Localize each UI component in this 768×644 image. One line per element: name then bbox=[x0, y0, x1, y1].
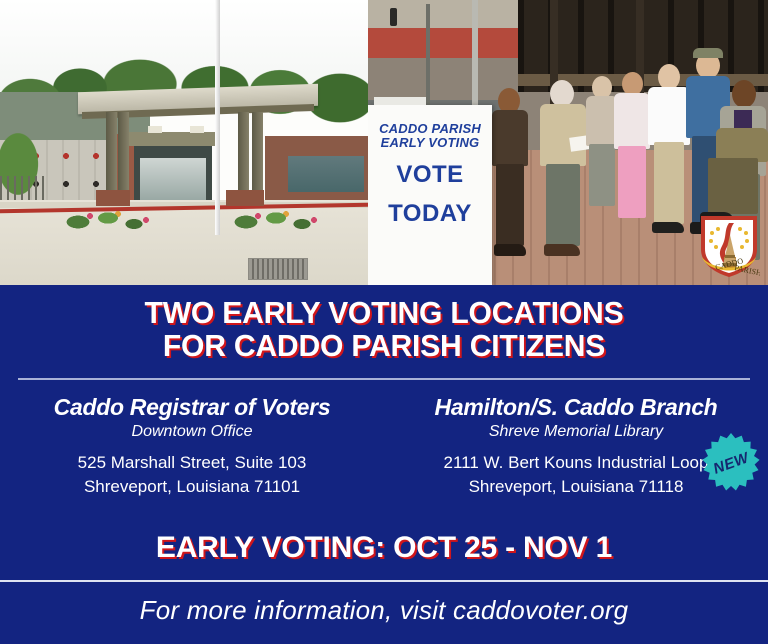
early-voting-yard-sign: CADDO PARISH EARLY VOTING VOTE TODAY bbox=[368, 105, 492, 285]
locations-section: Caddo Registrar of Voters Downtown Offic… bbox=[0, 394, 768, 499]
divider-top bbox=[18, 378, 750, 380]
planter-box bbox=[226, 190, 264, 206]
headline-line-2: FOR CADDO PARISH CITIZENS bbox=[12, 329, 757, 362]
location-card-registrar: Caddo Registrar of Voters Downtown Offic… bbox=[0, 394, 384, 499]
photo-band: CADDO PARISH EARLY VOTING VOTE TODAY bbox=[0, 0, 768, 285]
flagpole bbox=[215, 0, 220, 235]
entry-hood bbox=[128, 132, 220, 146]
sign-hinge bbox=[374, 97, 426, 105]
address-line-1: 525 Marshall Street, Suite 103 bbox=[0, 451, 384, 475]
canopy-light bbox=[190, 126, 204, 133]
new-badge: NEW bbox=[700, 432, 762, 494]
sign-vote-text: VOTE bbox=[368, 161, 492, 189]
headline-line-1: TWO EARLY VOTING LOCATIONS bbox=[12, 296, 757, 329]
location-name: Hamilton/S. Caddo Branch bbox=[384, 394, 768, 421]
caddo-parish-seal-icon: CADDO PARISH bbox=[698, 213, 760, 279]
footer: For more information, visit caddovoter.o… bbox=[0, 595, 768, 626]
library-exterior-photo bbox=[0, 0, 368, 285]
entry-doors bbox=[140, 158, 206, 204]
canopy-light bbox=[148, 126, 162, 133]
window-glass bbox=[288, 156, 364, 192]
flower-bed bbox=[60, 206, 170, 244]
early-voting-dates: EARLY VOTING: OCT 25 - NOV 1 bbox=[0, 531, 768, 565]
location-card-hamilton: Hamilton/S. Caddo Branch Shreve Memorial… bbox=[384, 394, 768, 499]
location-name: Caddo Registrar of Voters bbox=[0, 394, 384, 421]
location-subtitle: Downtown Office bbox=[0, 422, 384, 442]
headline: TWO EARLY VOTING LOCATIONS FOR CADDO PAR… bbox=[0, 296, 768, 362]
person-deputy bbox=[486, 88, 532, 263]
sign-line-2: EARLY VOTING bbox=[368, 135, 492, 150]
planter-box bbox=[96, 190, 130, 206]
drain-grate bbox=[248, 258, 308, 280]
address-line-2: Shreveport, Louisiana 71101 bbox=[0, 475, 384, 499]
footer-text: For more information, visit caddovoter.o… bbox=[140, 595, 629, 625]
canopy-column bbox=[118, 112, 129, 202]
dates-text: EARLY VOTING: OCT 25 - NOV 1 bbox=[156, 531, 612, 564]
location-address: 525 Marshall Street, Suite 103 Shrevepor… bbox=[0, 451, 384, 499]
fence bbox=[0, 176, 48, 202]
flower-bed bbox=[228, 206, 348, 244]
early-voting-line-photo: CADDO PARISH EARLY VOTING VOTE TODAY bbox=[368, 0, 768, 285]
canopy-column bbox=[106, 112, 117, 202]
traffic-light bbox=[390, 8, 397, 26]
divider-bottom bbox=[0, 580, 768, 582]
sign-line-1: CADDO PARISH bbox=[368, 121, 492, 136]
svg-text:PARISH: PARISH bbox=[734, 263, 760, 278]
sign-post bbox=[472, 0, 478, 120]
sign-today-text: TODAY bbox=[368, 200, 492, 228]
early-voting-poster: CADDO PARISH EARLY VOTING VOTE TODAY bbox=[0, 0, 768, 644]
